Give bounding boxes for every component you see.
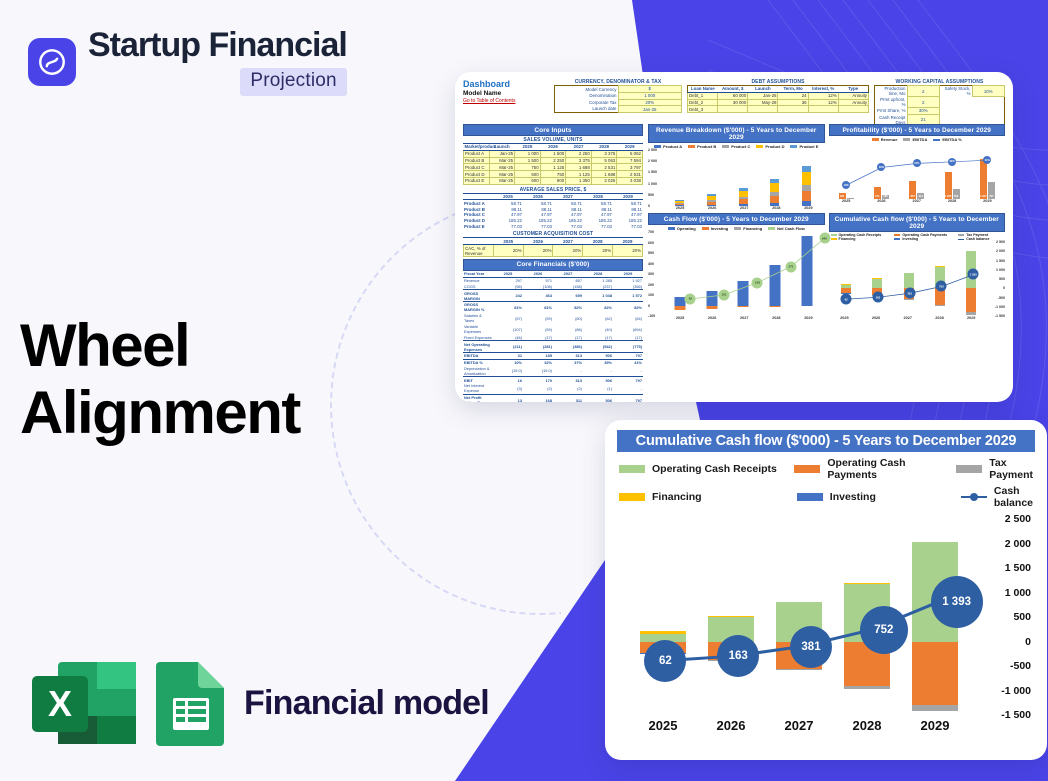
col-header: Term, Mo <box>778 86 808 93</box>
x-tick: 2025 <box>829 199 864 203</box>
svg-text:X: X <box>48 683 72 724</box>
cell: 5 062 <box>617 150 643 157</box>
bar-segment <box>739 204 748 206</box>
table-row[interactable]: Debt_3 <box>688 106 869 113</box>
cell: 20% <box>613 245 643 257</box>
col-header: Interest, % <box>808 86 838 93</box>
table-row[interactable]: Product A Jan-25 1 000 1 500 2 250 3 375… <box>464 150 643 157</box>
cell: 464 <box>523 290 553 302</box>
chart-plot: 7006005004003002001000-100 6210121837164… <box>648 232 825 316</box>
data-point-label: 41% <box>983 156 991 164</box>
core-financials-table[interactable]: Fiscal Year 2025 2026 2027 2028 2029 Rev… <box>463 271 643 402</box>
core-financials-title: Core Financials ($'000) <box>463 259 643 271</box>
table-row: Prmt upfront, % 2 <box>875 97 1005 108</box>
y-tick: 2 000 <box>648 159 657 163</box>
cell: (281) <box>523 341 553 353</box>
table-row: GROSS MARGIN2424646991 0481 572 <box>463 290 643 302</box>
table-row[interactable]: CAC, % of Revenue 20% 20% 20% 20% 20% <box>464 245 643 257</box>
cell: 81% <box>523 302 553 313</box>
cell: 185 <box>523 352 553 359</box>
brand-subtitle: Projection <box>240 68 347 96</box>
legend-item: Cash balance <box>961 485 1033 509</box>
chart-plot: 2 5002 0001 5001 0005000-500-1 000-1 500… <box>829 242 1006 316</box>
cell: Mar-25 <box>489 157 515 164</box>
cell: 81% <box>493 302 523 313</box>
cell: 2 250 <box>566 150 592 157</box>
working-capital-table[interactable]: Production time, Mo 2 Safety Stock, % 10… <box>874 85 1005 126</box>
y-tick: -1 000 <box>1001 685 1031 697</box>
row-label2: Safety Stock, % <box>940 86 973 97</box>
table-header-row: Loan Name Amount, $ Launch Term, Mo Inte… <box>688 86 869 93</box>
chart-legend: Revenue EBITDA EBITDA % <box>829 136 1006 143</box>
chart-title: Cumulative Cash flow ($'000) - 5 Years t… <box>829 213 1006 232</box>
y-tick: 0 <box>648 204 650 208</box>
sales-volume-table[interactable]: Market/product Launch 2025 2026 2027 202… <box>463 144 643 185</box>
cell: 31 <box>493 352 523 359</box>
cell: May-28 <box>748 99 778 106</box>
legend-item: Product C <box>722 144 750 149</box>
legend-item: Product E <box>790 144 818 149</box>
cell: GROSS MARGIN <box>463 290 493 302</box>
cash-flow-chart[interactable]: Cash Flow ($'000) - 5 Years to December … <box>648 213 825 320</box>
table-row[interactable]: Product C Mar-25 750 1 125 1 688 2 531 3… <box>464 164 643 171</box>
cell: 77.03 <box>583 224 613 230</box>
row-value[interactable]: 2 <box>907 86 940 97</box>
legend-label: Investing <box>830 491 876 503</box>
data-point-label: 37% <box>913 159 921 167</box>
stacked-bar <box>770 179 779 206</box>
table-row: Variable Expenses(107)(59)(86)(40)(694) <box>463 324 643 335</box>
currency-assumptions-block: CURRENCY, DENOMINATOR & TAX Model Curren… <box>554 79 682 121</box>
core-financials-body: Revenue2975718571 2851 927COGS(56)(108)(… <box>463 277 643 402</box>
y-tick: -500 <box>1010 660 1031 672</box>
cell: 242 <box>493 290 523 302</box>
brand-header: Startup Financial Projection <box>28 28 347 96</box>
y-tick: 1 500 <box>648 170 657 174</box>
x-tick: 2027 <box>892 316 924 320</box>
data-point-label: 62 <box>644 640 686 682</box>
cell: 600 <box>515 177 541 184</box>
table-row[interactable]: Product B Mar-25 1 500 2 250 3 375 5 063… <box>464 157 643 164</box>
table-row: Salaries & Taxes(57)(59)(60)(62)(64) <box>463 313 643 324</box>
cell: (3) <box>493 383 523 394</box>
dashboard-left-column: Core Inputs SALES VOLUME, UNITS Market/p… <box>463 124 643 402</box>
bar-segment <box>770 203 779 206</box>
row-label2 <box>940 108 973 115</box>
chart-title: Cumulative Cash flow ($'000) - 5 Years t… <box>617 430 1035 452</box>
cell: 313 <box>553 352 583 359</box>
legend-label: Revenue <box>881 137 898 142</box>
revenue-breakdown-chart[interactable]: Revenue Breakdown ($'000) - 5 Years to D… <box>648 124 825 210</box>
legend-item: Operating <box>668 226 696 231</box>
table-row: Depreciation & Amortization(15.0)(15.0)-… <box>463 366 643 377</box>
cell: Net Profit Before Tax <box>463 394 493 402</box>
legend-item: Investing <box>894 237 958 241</box>
cell: Mar-25 <box>489 177 515 184</box>
data-point-label: 39% <box>948 158 956 166</box>
x-axis-labels: 20252026202720282029 <box>829 199 1006 203</box>
stacked-bar <box>739 188 748 206</box>
legend-label: Cash balance <box>966 237 989 241</box>
legend-label: Cash balance <box>994 485 1033 509</box>
legend-item: Product D <box>756 144 784 149</box>
cell: GROSS MARGIN % <box>463 302 493 313</box>
col-header: Launch <box>748 86 778 93</box>
legend-item: Tax Payment <box>956 457 1033 481</box>
bar-segment <box>802 201 811 206</box>
x-axis-labels: 20252026202720282029 <box>648 206 825 210</box>
data-point-label: 381 <box>790 626 832 668</box>
cell: Fixed Expenses <box>463 334 493 340</box>
cell: (2) <box>523 383 553 394</box>
data-point-label: 371 <box>785 261 796 272</box>
x-tick: 2026 <box>696 316 728 320</box>
bar-column <box>759 150 791 206</box>
table-row: Denomination 1 000 <box>555 92 682 99</box>
infinity-loop-icon <box>37 47 67 77</box>
brand-subtitle-wrap: Projection <box>88 68 347 96</box>
col-header: Market/product <box>464 144 490 150</box>
debt-table[interactable]: Loan Name Amount, $ Launch Term, Mo Inte… <box>687 85 869 113</box>
x-tick: 2025 <box>664 316 696 320</box>
row-label: Prmt Share, % <box>875 108 908 115</box>
cell: Product D <box>464 171 490 178</box>
legend-item: Revenue <box>872 137 898 142</box>
x-tick: 2028 <box>924 316 956 320</box>
x-tick: 2029 <box>792 206 824 210</box>
x-tick: 2025 <box>829 316 861 320</box>
col-header: Loan Name <box>688 86 718 93</box>
chart-legend: Operating Cash Receipts Operating Cash P… <box>617 452 1035 515</box>
cell: Mar-25 <box>489 171 515 178</box>
legend-label: Operating Cash Receipts <box>652 463 777 475</box>
data-point-label: 163 <box>717 635 759 677</box>
cell: 900 <box>540 177 566 184</box>
legend-label: Net Cash Flow <box>777 226 805 231</box>
x-tick: 2027 <box>728 206 760 210</box>
cell: Debt_1 <box>688 92 718 99</box>
table-row: GROSS MARGIN %81%81%82%82%82% <box>463 302 643 313</box>
cell: (59) <box>523 324 553 335</box>
cell: 2 531 <box>617 171 643 178</box>
row-label: Model Currency <box>555 86 619 93</box>
bar-column <box>664 150 696 206</box>
table-row: Net Operating Expenses(211)(281)(386)(54… <box>463 341 643 353</box>
data-point-label: 381 <box>904 288 915 299</box>
cell: (1) <box>583 383 613 394</box>
legend-label: EBITDA % <box>942 137 961 142</box>
cell: 20% <box>583 245 613 257</box>
legend-label: Financing <box>839 237 856 241</box>
x-tick: 2029 <box>792 316 824 320</box>
avg-price-table[interactable]: 2025 2026 2027 2028 2029 Product A 58.71… <box>463 194 643 230</box>
avg-price-header: AVERAGE SALES PRICE, $ <box>463 187 643 194</box>
chart-title: Profitability ($'000) - 5 Years to Decem… <box>829 124 1006 136</box>
table-row: Model Currency $ <box>555 86 682 93</box>
chart-title: Cash Flow ($'000) - 5 Years to December … <box>648 213 825 225</box>
cell: 36 <box>778 99 808 106</box>
legend-swatch <box>619 493 645 501</box>
ebitda-pct-labels: 10%32%37%39%41% <box>829 143 1006 199</box>
cell: 2 531 <box>591 164 617 171</box>
cash-balance-labels: 621633817521 393 <box>829 242 1006 316</box>
data-point-label: 62 <box>841 294 852 305</box>
brand-text-block: Startup Financial Projection <box>88 28 347 96</box>
cell: 797 <box>613 352 643 359</box>
table-row[interactable]: Product E Mar-25 600 900 1 350 2 025 3 0… <box>464 177 643 184</box>
microsoft-excel-icon: X <box>30 660 138 746</box>
stacked-bar <box>802 166 811 206</box>
dashboard-charts-column: Revenue Breakdown ($'000) - 5 Years to D… <box>648 124 1005 402</box>
cell: 506 <box>583 394 613 402</box>
row-label: Denomination <box>555 92 619 99</box>
table-row: Launch date Jan-25 <box>555 106 682 113</box>
dashboard-toc-link[interactable]: Go to Table of Contents <box>463 98 549 104</box>
cell: Product E <box>464 177 490 184</box>
cell: 1 500 <box>540 150 566 157</box>
bars-area <box>664 150 823 206</box>
legend-label: Operating Cash Payments <box>827 457 956 481</box>
legend-item: Investing <box>797 485 961 509</box>
row-value[interactable]: 30% <box>907 108 940 115</box>
legend-item: Financing <box>831 237 895 241</box>
legend-item: Operating Cash Payments <box>794 457 956 481</box>
cell: (64) <box>613 313 643 324</box>
data-point-label: 62 <box>685 293 696 304</box>
cell: EBITDA <box>463 352 493 359</box>
bar-column <box>727 150 759 206</box>
data-point-label: 1 393 <box>968 269 979 280</box>
y-tick: 2 500 <box>648 148 657 152</box>
row-value2[interactable]: 10% <box>972 86 1005 97</box>
legend-line-swatch <box>961 496 987 498</box>
cell: (40) <box>583 324 613 335</box>
cell: (59) <box>523 313 553 324</box>
x-tick: 2026 <box>860 316 892 320</box>
legend-swatch <box>794 465 820 473</box>
cell: 699 <box>553 290 583 302</box>
y-tick: 500 <box>1013 611 1031 623</box>
cell: (694) <box>613 324 643 335</box>
legend-swatch <box>956 465 982 473</box>
legend-label: Operating <box>677 226 696 231</box>
cell: 5 063 <box>591 157 617 164</box>
x-tick: 2029 <box>955 316 987 320</box>
table-row[interactable]: Product D Mar-25 500 750 1 125 1 688 2 5… <box>464 171 643 178</box>
cell: 1 572 <box>613 290 643 302</box>
bar-segment <box>675 205 684 206</box>
cell: 797 <box>613 394 643 402</box>
cell: Annuity <box>838 92 868 99</box>
cell: 20% <box>523 245 553 257</box>
brand-title: Startup Financial <box>88 28 347 64</box>
legend-item: Net Cash Flow <box>768 226 805 231</box>
row-value[interactable]: Jan-25 <box>618 106 682 113</box>
cell: 500 <box>515 171 541 178</box>
cell: (60) <box>553 313 583 324</box>
cell: 20% <box>493 245 523 257</box>
cell: 2 250 <box>540 157 566 164</box>
legend-label: Financing <box>743 226 762 231</box>
cell: 168 <box>523 394 553 402</box>
legend-item: Investing <box>702 226 729 231</box>
x-tick: 2026 <box>864 199 899 203</box>
cell: 1 000 <box>515 150 541 157</box>
cumulative-cash-flow-chart-small[interactable]: Cumulative Cash flow ($'000) - 5 Years t… <box>829 213 1006 320</box>
cell: 750 <box>540 171 566 178</box>
legend-item: Financing <box>734 226 762 231</box>
table-row[interactable]: Debt_2 30 000 May-28 36 12% Annuity <box>688 99 869 106</box>
cell: 3 797 <box>617 164 643 171</box>
legend-item: EBITDA % <box>933 137 961 142</box>
cell: Annuity <box>838 99 868 106</box>
data-point-label: 218 <box>752 277 763 288</box>
cell <box>748 106 778 113</box>
profitability-chart[interactable]: Profitability ($'000) - 5 Years to Decem… <box>829 124 1006 210</box>
bar-segment <box>707 205 716 206</box>
y-tick: 500 <box>648 193 654 197</box>
y-tick: 1 000 <box>1005 587 1031 599</box>
legend-item: Product B <box>688 144 716 149</box>
cell: 1 688 <box>591 171 617 178</box>
cell: 1 125 <box>540 164 566 171</box>
cac-header: CUSTOMER ACQUISITION COST <box>463 231 643 238</box>
row-value2 <box>972 97 1005 108</box>
cumulative-cash-flow-card[interactable]: Cumulative Cash flow ($'000) - 5 Years t… <box>605 420 1047 760</box>
x-tick: 2025 <box>664 206 696 210</box>
dashboard-screenshot-card[interactable]: Dashboard Model Name Go to Table of Cont… <box>455 72 1013 402</box>
cell: (386) <box>553 341 583 353</box>
cell: 750 <box>515 164 541 171</box>
dashboard-model-name: Model Name <box>463 90 549 97</box>
chart-title: Revenue Breakdown ($'000) - 5 Years to D… <box>648 124 825 143</box>
bar-column <box>696 150 728 206</box>
table-row: Net Profit Before Tax13168311506797 <box>463 394 643 402</box>
table-row: EBITDA31185313506797 <box>463 352 643 359</box>
legend-item: Product A <box>654 144 682 149</box>
row-value[interactable]: 2 <box>907 97 940 108</box>
legend-label: Financing <box>652 491 702 503</box>
table-row[interactable]: Debt_1 60 000 Jan-26 24 12% Annuity <box>688 92 869 99</box>
cell: 3 038 <box>617 177 643 184</box>
x-tick: 2028 <box>760 206 792 210</box>
legend-item: EBITDA <box>903 137 927 142</box>
cell: 77.03 <box>553 224 583 230</box>
chart-plot: 297315711858573131 2855061 927797 10%32%… <box>829 143 1006 199</box>
legend-label: Product C <box>731 144 750 149</box>
y-tick: 1 000 <box>648 182 657 186</box>
cell: 1 048 <box>583 290 613 302</box>
stacked-bar <box>675 200 684 206</box>
data-point-label: 101 <box>718 289 729 300</box>
cell: Depreciation & Amortization <box>463 366 493 377</box>
legend-item: Financing <box>619 485 797 509</box>
row-label2 <box>940 97 973 108</box>
cell: 311 <box>553 394 583 402</box>
cell: - <box>553 366 583 377</box>
cell: 506 <box>583 352 613 359</box>
cell: 82% <box>613 302 643 313</box>
legend-label: Product A <box>663 144 682 149</box>
table-row: Prmt Share, % 30% <box>875 108 1005 115</box>
row-label: Launch date <box>555 106 619 113</box>
bar-segment <box>802 191 811 201</box>
dashboard-heading-block: Dashboard Model Name Go to Table of Cont… <box>463 79 549 121</box>
debt-assumptions-block: DEBT ASSUMPTIONS Loan Name Amount, $ Lau… <box>687 79 869 121</box>
bar-segment <box>802 172 811 185</box>
x-axis-labels: 20252026202720282029 <box>829 316 1006 320</box>
currency-table[interactable]: Model Currency $ Denomination 1 000 Corp… <box>554 85 682 113</box>
cell: Net Interest Expense <box>463 383 493 394</box>
cell: (15.0) <box>523 366 553 377</box>
row-value[interactable]: 20% <box>618 99 682 106</box>
row-value[interactable]: $ <box>618 86 682 93</box>
cell: 1 500 <box>515 157 541 164</box>
cell: 60 000 <box>718 92 748 99</box>
x-tick: 2025 <box>629 718 697 733</box>
legend-label: Product D <box>765 144 784 149</box>
table-row: Product E 77.03 77.03 77.03 77.03 77.03 <box>463 224 643 230</box>
row-label: Production time, Mo <box>875 86 908 97</box>
footer-block: X Financial model <box>30 660 489 746</box>
sales-volume-header: SALES VOLUME, UNITS <box>463 137 643 144</box>
cell: Net Operating Expenses <box>463 341 493 353</box>
google-sheets-icon <box>154 660 228 746</box>
legend-label: Product B <box>697 144 716 149</box>
cell: CAC, % of Revenue <box>464 245 494 257</box>
net-cash-flow-labels: 62101218371640 <box>648 232 825 316</box>
cell: 12% <box>808 92 838 99</box>
row-label: Corporate Tax <box>555 99 619 106</box>
cell: (542) <box>583 341 613 353</box>
cell <box>838 106 868 113</box>
data-point-label: 163 <box>872 292 883 303</box>
legend-label: Investing <box>902 237 918 241</box>
x-tick: 2028 <box>760 316 792 320</box>
cell: (86) <box>553 324 583 335</box>
cell: Variable Expenses <box>463 324 493 335</box>
cell: 1 688 <box>566 164 592 171</box>
row-value[interactable]: 1 000 <box>618 92 682 99</box>
legend-row: Operating Cash Receipts Operating Cash P… <box>619 457 1033 481</box>
data-point-label: 32% <box>877 163 885 171</box>
cell: Product E <box>463 224 493 230</box>
cell: 77.03 <box>493 224 523 230</box>
legend-swatch <box>619 465 645 473</box>
legend-row: Financing Investing Cash balance <box>619 485 1033 509</box>
footer-label: Financial model <box>244 684 489 723</box>
cell: 12% <box>808 99 838 106</box>
cell: Debt_2 <box>688 99 718 106</box>
cell: Product B <box>464 157 490 164</box>
data-point-label: 10% <box>842 181 850 189</box>
cell: 2 025 <box>591 177 617 184</box>
cell: 30 000 <box>718 99 748 106</box>
page-title-line2: Alignment <box>20 379 420 446</box>
cell: 24 <box>778 92 808 99</box>
page-title: Wheel Alignment <box>20 312 420 446</box>
cell: Jan-25 <box>489 150 515 157</box>
x-tick: 2027 <box>765 718 833 733</box>
row-value2 <box>972 108 1005 115</box>
cell: 82% <box>553 302 583 313</box>
cell: Mar-25 <box>489 164 515 171</box>
cell: - <box>613 383 643 394</box>
cac-table[interactable]: 2025 2026 2027 2028 2029 CAC, % of Reven… <box>463 238 643 257</box>
x-tick: 2027 <box>899 199 934 203</box>
cell: 7 594 <box>617 157 643 164</box>
data-point-label: 752 <box>936 281 947 292</box>
